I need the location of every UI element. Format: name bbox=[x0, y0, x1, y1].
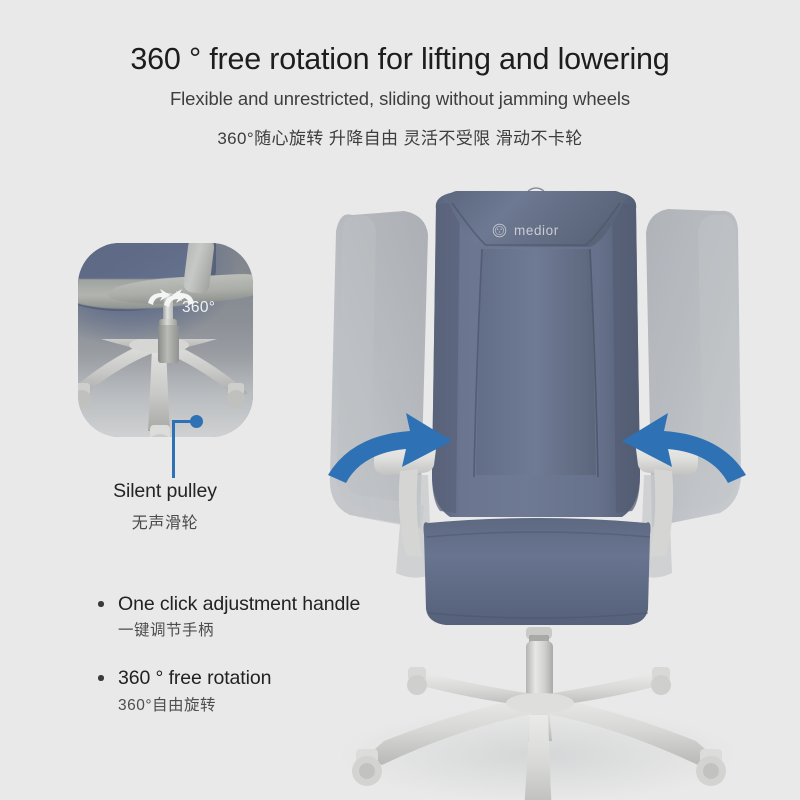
product-marketing-banner: 360 ° free rotation for lifting and lowe… bbox=[0, 0, 800, 800]
bullet-marker-icon bbox=[98, 601, 104, 607]
list-item: 360 ° free rotation 360°自由旋转 bbox=[98, 666, 398, 714]
page-title: 360 ° free rotation for lifting and lowe… bbox=[0, 42, 800, 77]
feature-label-chinese: 360°自由旋转 bbox=[118, 693, 398, 715]
headrest-panel bbox=[446, 191, 626, 247]
circular-logo-emblem-icon bbox=[492, 223, 507, 238]
inset-caption-english: Silent pulley bbox=[0, 480, 330, 503]
subtitle-chinese: 360°随心旋转 升降自由 灵活不受限 滑动不卡轮 bbox=[0, 124, 800, 149]
subtitle-english: Flexible and unrestricted, sliding witho… bbox=[0, 88, 800, 110]
brand-name: medior bbox=[514, 223, 559, 238]
inset-caption-chinese: 无声滑轮 bbox=[0, 509, 330, 533]
brand-logo: medior bbox=[492, 223, 559, 238]
blue-dot-marker-icon bbox=[190, 415, 203, 428]
detail-inset-silent-pulley: 360° bbox=[78, 243, 253, 437]
list-item: One click adjustment handle 一键调节手柄 bbox=[98, 592, 398, 640]
feature-label-chinese: 一键调节手柄 bbox=[118, 618, 398, 640]
inset-cylinder-body bbox=[158, 325, 179, 363]
feature-label-english: 360 ° free rotation bbox=[118, 666, 398, 690]
rotation-degree-label: 360° bbox=[182, 299, 215, 317]
feature-label-english: One click adjustment handle bbox=[118, 592, 398, 616]
callout-leader-line-vertical bbox=[172, 420, 175, 478]
feature-list: One click adjustment handle 一键调节手柄 360 °… bbox=[98, 592, 398, 737]
bullet-marker-icon bbox=[98, 675, 104, 681]
